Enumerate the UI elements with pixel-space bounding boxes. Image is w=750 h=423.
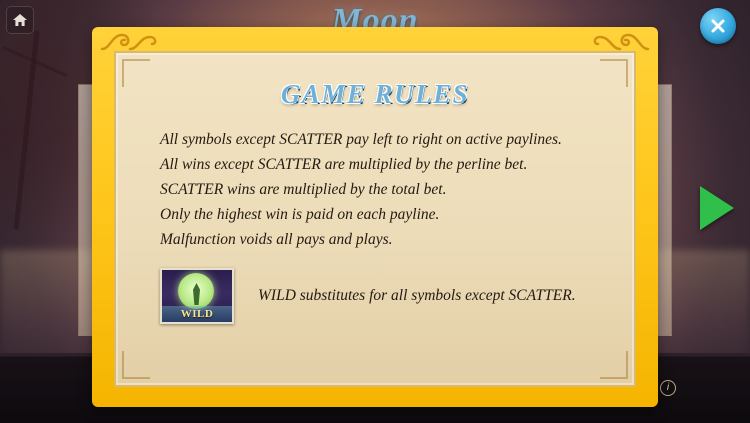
corner-ornament — [122, 351, 150, 379]
next-page-button[interactable] — [700, 186, 734, 230]
rule-item: All wins except SCATTER are multiplied b… — [160, 152, 604, 177]
rule-item: Only the highest win is paid on each pay… — [160, 202, 604, 227]
rule-item: All symbols except SCATTER pay left to r… — [160, 127, 604, 152]
home-button[interactable] — [6, 6, 34, 34]
close-icon — [708, 16, 728, 36]
info-icon[interactable]: i — [660, 380, 676, 396]
dragon-swirl-icon — [590, 29, 650, 53]
wild-description: WILD substitutes for all symbols except … — [258, 287, 576, 305]
rules-list: All symbols except SCATTER pay left to r… — [160, 127, 604, 252]
corner-ornament — [600, 351, 628, 379]
close-button[interactable] — [700, 8, 736, 44]
wild-label: WILD — [162, 308, 232, 320]
rule-item: SCATTER wins are multiplied by the total… — [160, 177, 604, 202]
dragon-swirl-icon — [100, 29, 160, 53]
game-screen: 2 A K 0 J 9 Baar p… 0,00 i Moon — [0, 0, 750, 423]
wild-symbol-row: WILD WILD substitutes for all symbols ex… — [160, 268, 576, 324]
game-rules-dialog: GAME RULES All symbols except SCATTER pa… — [92, 27, 658, 407]
rules-title: GAME RULES — [116, 79, 634, 110]
rule-item: Malfunction voids all pays and plays. — [160, 227, 604, 252]
rules-panel-body: GAME RULES All symbols except SCATTER pa… — [114, 51, 636, 387]
wild-symbol-thumbnail: WILD — [160, 268, 234, 324]
home-icon — [12, 12, 28, 28]
